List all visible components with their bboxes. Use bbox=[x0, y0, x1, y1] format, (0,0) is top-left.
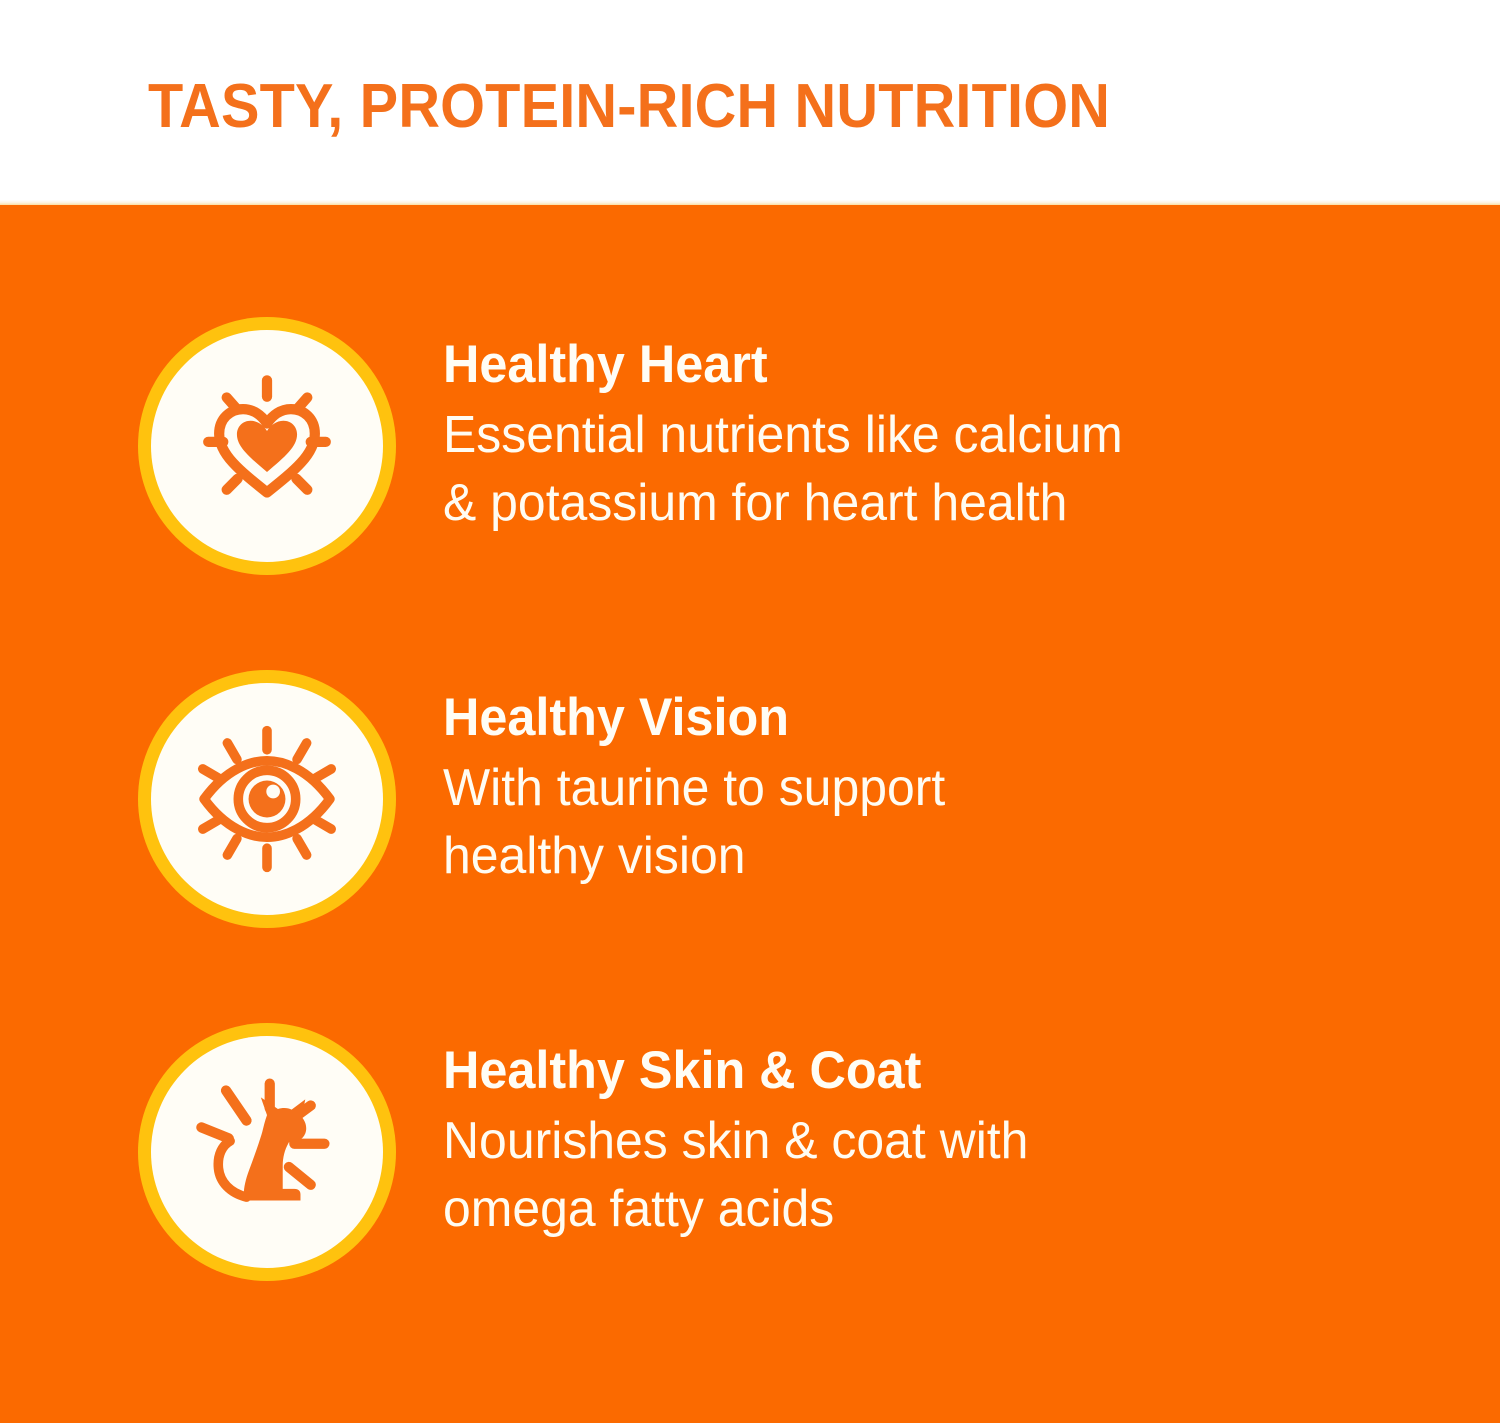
radiant-eye-icon bbox=[185, 717, 349, 881]
feature-title: Healthy Heart bbox=[443, 335, 1393, 395]
feature-text-block: Healthy Skin & Coat Nourishes skin & coa… bbox=[443, 1041, 1443, 1243]
feature-text-block: Healthy Vision With taurine to support h… bbox=[443, 688, 1443, 890]
product-feature-infographic: TASTY, PROTEIN-RICH NUTRITION FOR ADULT … bbox=[0, 0, 1500, 1423]
feature-description: With taurine to support healthy vision bbox=[443, 754, 1403, 890]
feature-description: Essential nutrients like calcium & potas… bbox=[443, 401, 1403, 537]
features-panel: Healthy Heart Essential nutrients like c… bbox=[0, 205, 1500, 1423]
header-band: TASTY, PROTEIN-RICH NUTRITION FOR ADULT … bbox=[0, 0, 1500, 205]
headline-line-1: TASTY, PROTEIN-RICH NUTRITION bbox=[148, 72, 1338, 142]
feature-text-block: Healthy Heart Essential nutrients like c… bbox=[443, 335, 1443, 537]
feature-title: Healthy Skin & Coat bbox=[443, 1041, 1393, 1101]
feature-icon-badge bbox=[138, 1023, 396, 1281]
feature-description: Nourishes skin & coat with omega fatty a… bbox=[443, 1107, 1403, 1243]
feature-icon-badge bbox=[138, 317, 396, 575]
radiant-cat-icon bbox=[185, 1070, 349, 1234]
radiant-heart-icon bbox=[185, 364, 349, 528]
feature-icon-badge bbox=[138, 670, 396, 928]
feature-title: Healthy Vision bbox=[443, 688, 1393, 748]
